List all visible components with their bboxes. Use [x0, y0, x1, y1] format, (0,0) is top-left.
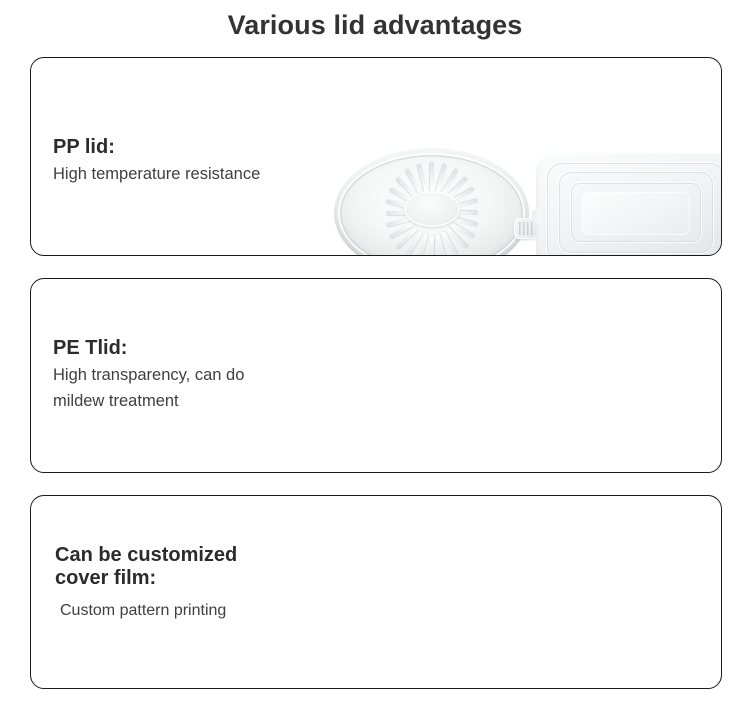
card-cover-film: Can be customized cover film: Custom pat… [30, 495, 722, 689]
card-pe-lid-heading: PE Tlid: [53, 337, 244, 360]
pp-rectangular-lid-center-panel [582, 192, 690, 235]
card-pp-lid-heading: PP lid: [53, 136, 260, 159]
card-cover-film-heading: Can be customized cover film: [55, 544, 237, 591]
card-pe-lid: PE Tlid: High transparency, can do milde… [30, 278, 722, 473]
pp-rectangular-lid-image [536, 153, 722, 256]
page-title: Various lid advantages [0, 10, 750, 41]
pp-round-lid-image [334, 148, 529, 256]
card-pe-lid-text-block: PE Tlid: High transparency, can do milde… [53, 337, 244, 415]
card-cover-film-description: Custom pattern printing [55, 599, 237, 624]
card-pe-lid-description: High transparency, can do mildew treatme… [53, 363, 244, 414]
card-pp-lid-description: High temperature resistance [53, 162, 260, 188]
pp-rectangular-lid-nub [532, 209, 541, 223]
card-cover-film-text-block: Can be customized cover film: Custom pat… [55, 544, 237, 624]
card-pp-lid-text-block: PP lid: High temperature resistance [53, 136, 260, 188]
card-pp-lid: PP lid: High temperature resistance [30, 57, 722, 256]
infographic-page: Various lid advantages PP lid: High temp… [0, 0, 750, 713]
